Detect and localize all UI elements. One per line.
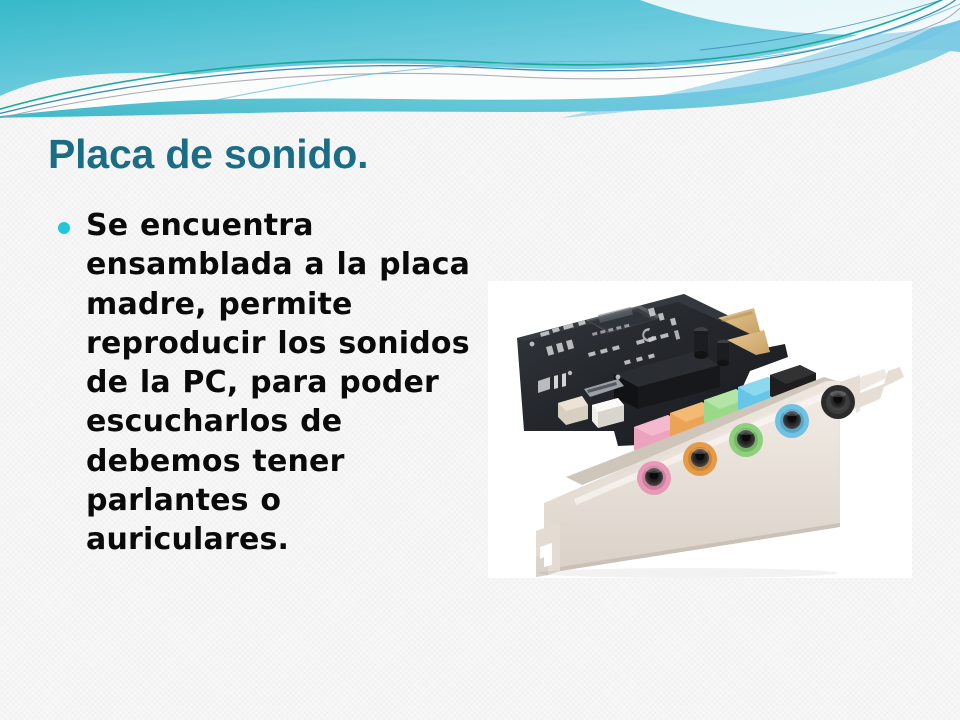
bullet-dot-icon [58, 222, 70, 234]
accent-line-thin-upper [700, 0, 960, 50]
wave-white-sliver [640, 0, 960, 35]
photo-shadow [538, 568, 838, 578]
wave-blue-band [560, 0, 960, 118]
list-item-label: Se encuentra ensamblada a la placa madre… [86, 208, 470, 557]
wave-main-fill [0, 0, 960, 101]
wave-banner [0, 0, 960, 118]
jack-blue-line-in [775, 404, 809, 438]
list-item: Se encuentra ensamblada a la placa madre… [52, 206, 472, 560]
capacitor-black-2 [717, 340, 729, 367]
capacitor-black-1 [694, 327, 708, 359]
wave-white-crescent [0, 0, 960, 118]
sound-card-photo [488, 281, 912, 578]
slide-canvas: Placa de sonido. Se encuentra ensamblada… [0, 0, 960, 720]
accent-line-blue [0, 0, 960, 116]
wave-shapes [0, 0, 960, 118]
jack-green-line-out [729, 423, 763, 457]
accent-line-teal [0, 0, 960, 112]
body-content: Se encuentra ensamblada a la placa madre… [52, 206, 472, 560]
wave-lower-swoosh [0, 0, 960, 118]
page-title: Placa de sonido. [48, 132, 668, 177]
jack-pink-microphone [637, 461, 671, 495]
accent-line-lightblue [180, 4, 960, 108]
accent-line-grey [0, 8, 960, 118]
jack-orange-center-sub [683, 442, 717, 476]
jack-black-rear-out [821, 385, 855, 419]
